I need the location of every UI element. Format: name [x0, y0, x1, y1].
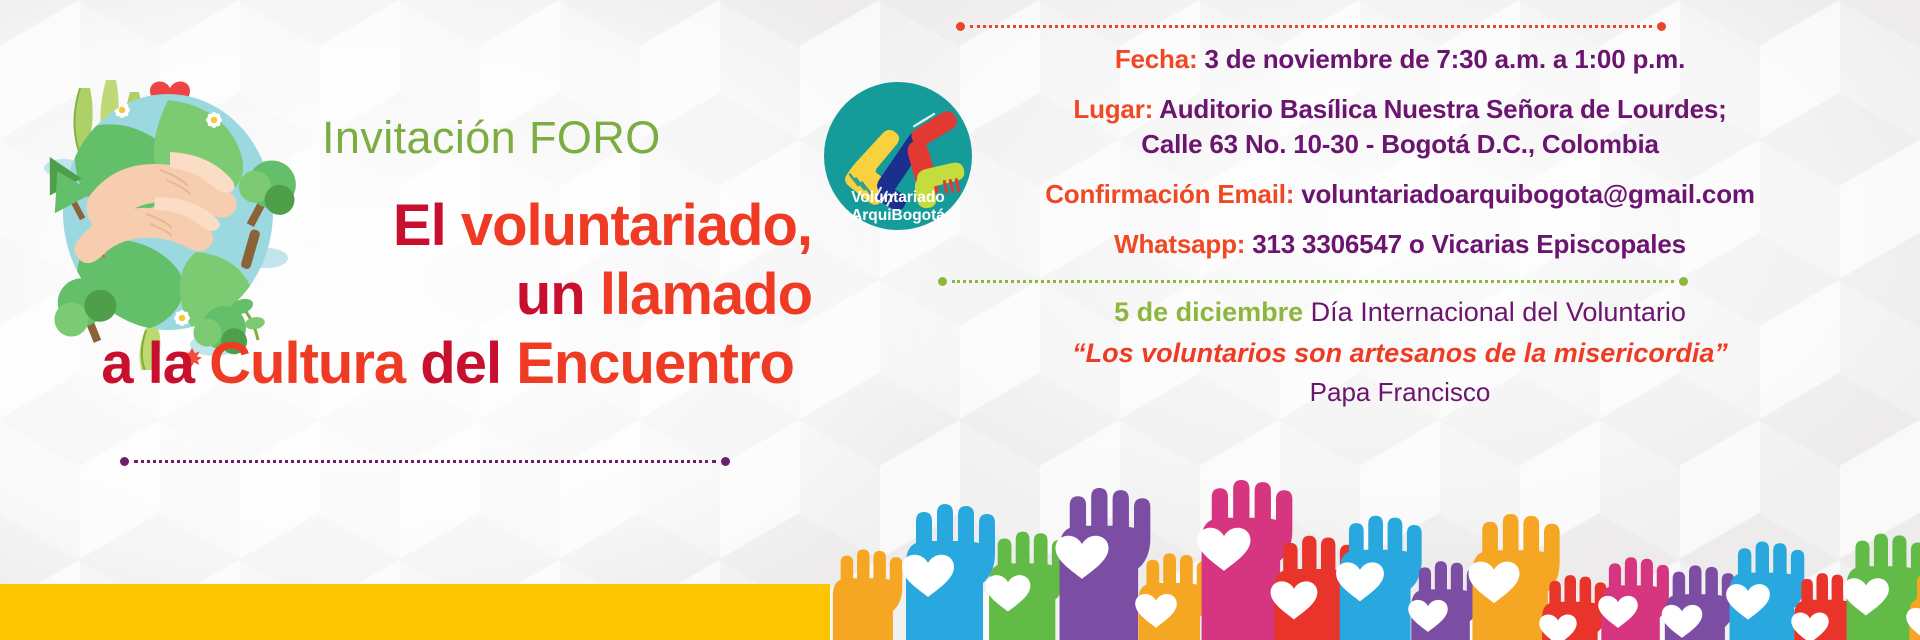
divider-line [952, 280, 1674, 283]
date-5-diciembre: 5 de diciembre [1114, 297, 1303, 327]
quote-author: Papa Francisco [890, 373, 1910, 412]
divider-dot-right [1679, 277, 1688, 286]
info-label-lugar: Lugar: [1073, 94, 1153, 124]
right-column: Voluntariado ArquiBogotá Voluntariado Ar… [830, 0, 1920, 640]
info-label-fecha: Fecha: [1115, 44, 1198, 74]
headline-line3-part-c: del [405, 331, 516, 396]
headline-line2-part-b: llamado [600, 262, 812, 327]
event-info-block: Fecha: 3 de noviembre de 7:30 a.m. a 1:0… [890, 44, 1910, 279]
divider-dot-right [1657, 22, 1666, 31]
info-row-whatsapp: Whatsapp: 313 3306547 o Vicarias Episcop… [890, 229, 1910, 261]
info-row-lugar-continuation: Calle 63 No. 10-30 - Bogotá D.C., Colomb… [890, 129, 1910, 161]
divider-dot-right [721, 457, 730, 466]
divider-line [970, 25, 1652, 28]
headline-line-2: un llamado [0, 265, 812, 324]
headline-line-1: El voluntariado, [0, 196, 812, 255]
divider-dot-left [120, 457, 129, 466]
headline-line1-part-b: voluntariado, [461, 193, 812, 258]
date-rest-text: Día Internacional del Voluntario [1303, 297, 1686, 327]
info-row-email: Confirmación Email: voluntariadoarquibog… [890, 179, 1910, 211]
info-label-whatsapp: Whatsapp: [1114, 229, 1245, 259]
info-row-fecha: Fecha: 3 de noviembre de 7:30 a.m. a 1:0… [890, 44, 1910, 76]
headline-line1-part-a: El [393, 193, 461, 258]
divider-line [134, 460, 716, 463]
international-volunteer-day-line: 5 de diciembre Día Internacional del Vol… [890, 292, 1910, 333]
info-value-address: Calle 63 No. 10-30 - Bogotá D.C., Colomb… [1141, 129, 1658, 159]
headline-line3-part-b: Cultura [209, 331, 405, 396]
quote-block: 5 de diciembre Día Internacional del Vol… [890, 292, 1910, 412]
event-invitation-banner: Invitación FORO El voluntariado, un llam… [0, 0, 1920, 640]
info-label-email: Confirmación Email: [1045, 179, 1294, 209]
main-headline: El voluntariado, un llamado a la Cultura… [0, 196, 812, 393]
raised-hands-with-hearts-illustration [820, 455, 1920, 640]
info-row-lugar: Lugar: Auditorio Basílica Nuestra Señora… [890, 94, 1910, 126]
divider-dot-left [938, 277, 947, 286]
info-value-fecha: 3 de noviembre de 7:30 a.m. a 1:00 p.m. [1197, 44, 1685, 74]
info-value-lugar: Auditorio Basílica Nuestra Señora de Lou… [1153, 94, 1727, 124]
info-value-email[interactable]: voluntariadoarquibogota@gmail.com [1294, 179, 1755, 209]
red-dotted-divider [956, 22, 1666, 30]
purple-dotted-divider [120, 457, 730, 465]
headline-line2-part-a: un [516, 262, 600, 327]
green-dotted-divider [938, 277, 1688, 285]
info-value-whatsapp[interactable]: 313 3306547 o Vicarias Episcopales [1245, 229, 1686, 259]
headline-line3-part-d: Encuentro [516, 331, 794, 396]
headline-line3-part-a: a la [101, 331, 209, 396]
eyebrow-invitacion-foro: Invitación FORO [322, 112, 661, 164]
quote-text: “Los voluntarios son artesanos de la mis… [890, 333, 1910, 374]
headline-line-3: a la Cultura del Encuentro [0, 334, 812, 393]
divider-dot-left [956, 22, 965, 31]
left-column: Invitación FORO El voluntariado, un llam… [0, 0, 830, 640]
